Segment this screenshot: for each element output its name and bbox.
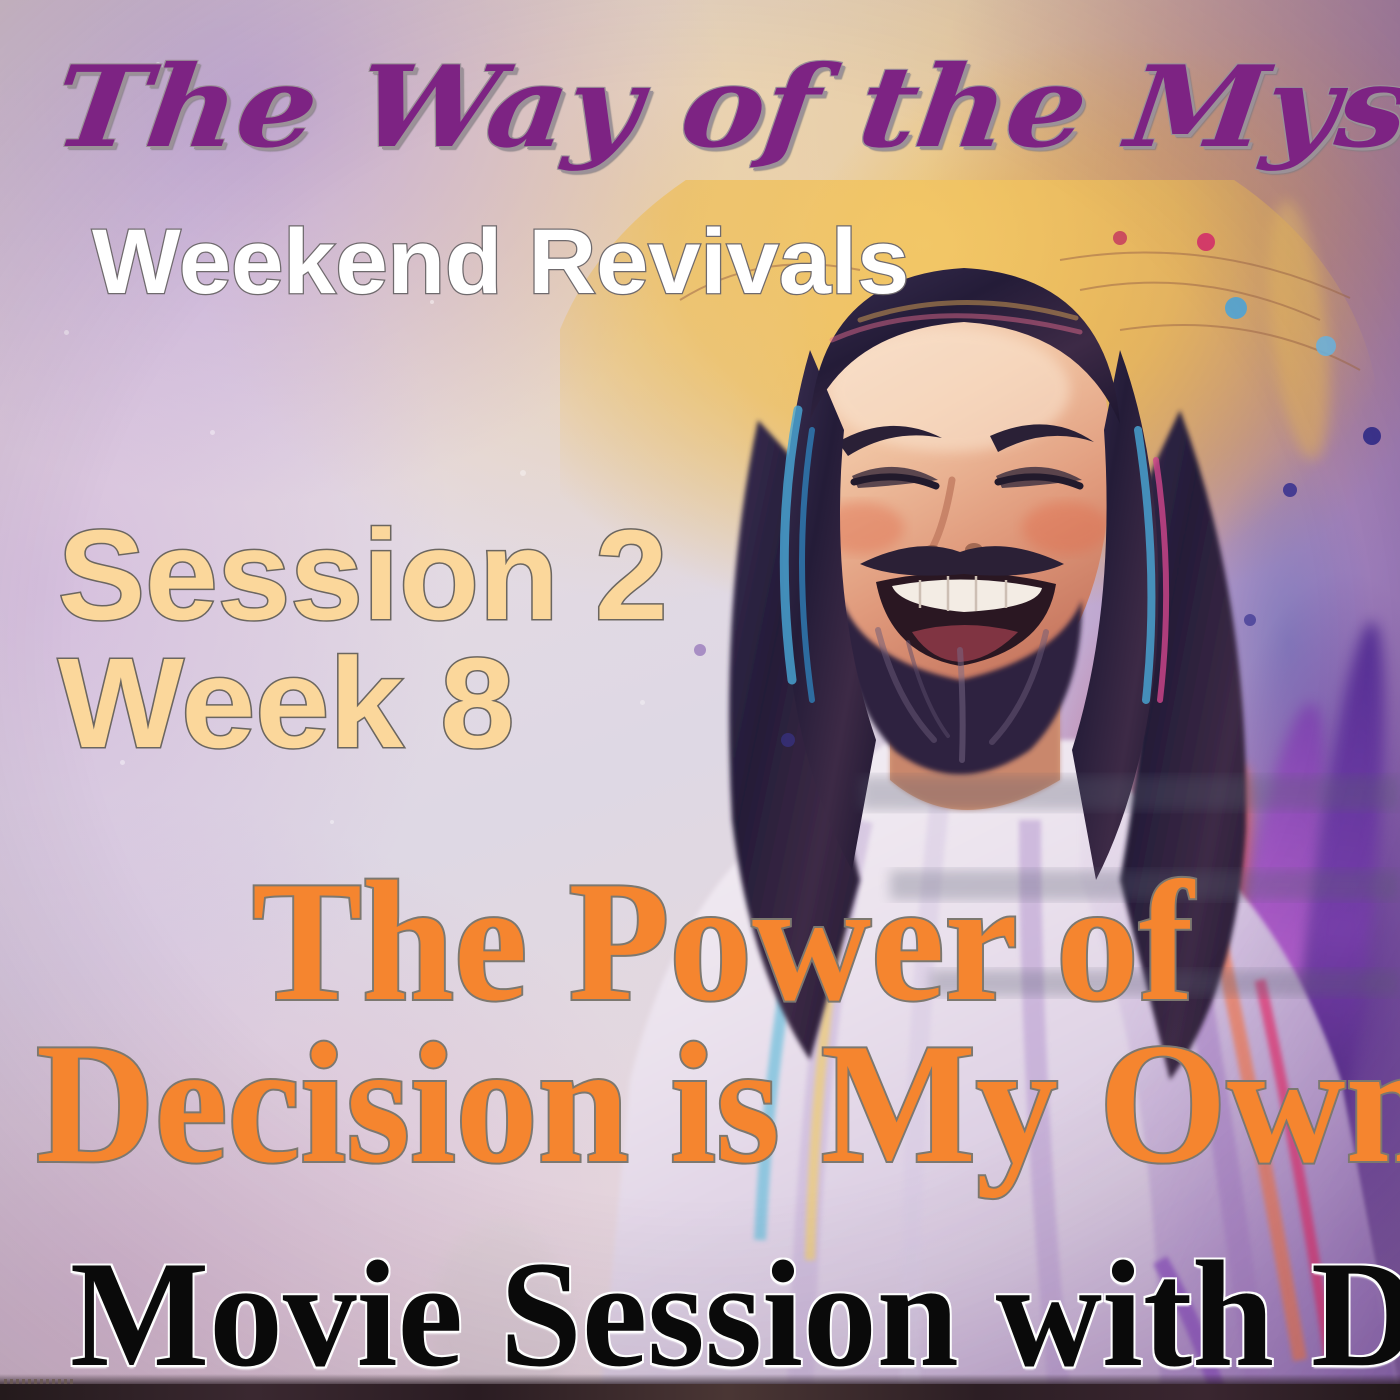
week-number: Week 8 xyxy=(58,640,514,768)
session-number: Session 2 xyxy=(58,512,668,640)
brand-title: The Way of the Mystic xyxy=(48,52,1400,164)
episode-title-line-2: Decision is My Own xyxy=(36,1018,1400,1190)
podcast-cover-art: The Way of the Mystic Weekend Revivals S… xyxy=(0,0,1400,1400)
brand-subtitle: Weekend Revivals xyxy=(92,216,909,308)
bottom-dark-band xyxy=(0,1384,1400,1400)
corner-tick-marks xyxy=(4,1379,74,1384)
episode-title-line-1: The Power of xyxy=(252,856,1194,1028)
presenter-label: Movie Session with David xyxy=(70,1238,1400,1390)
